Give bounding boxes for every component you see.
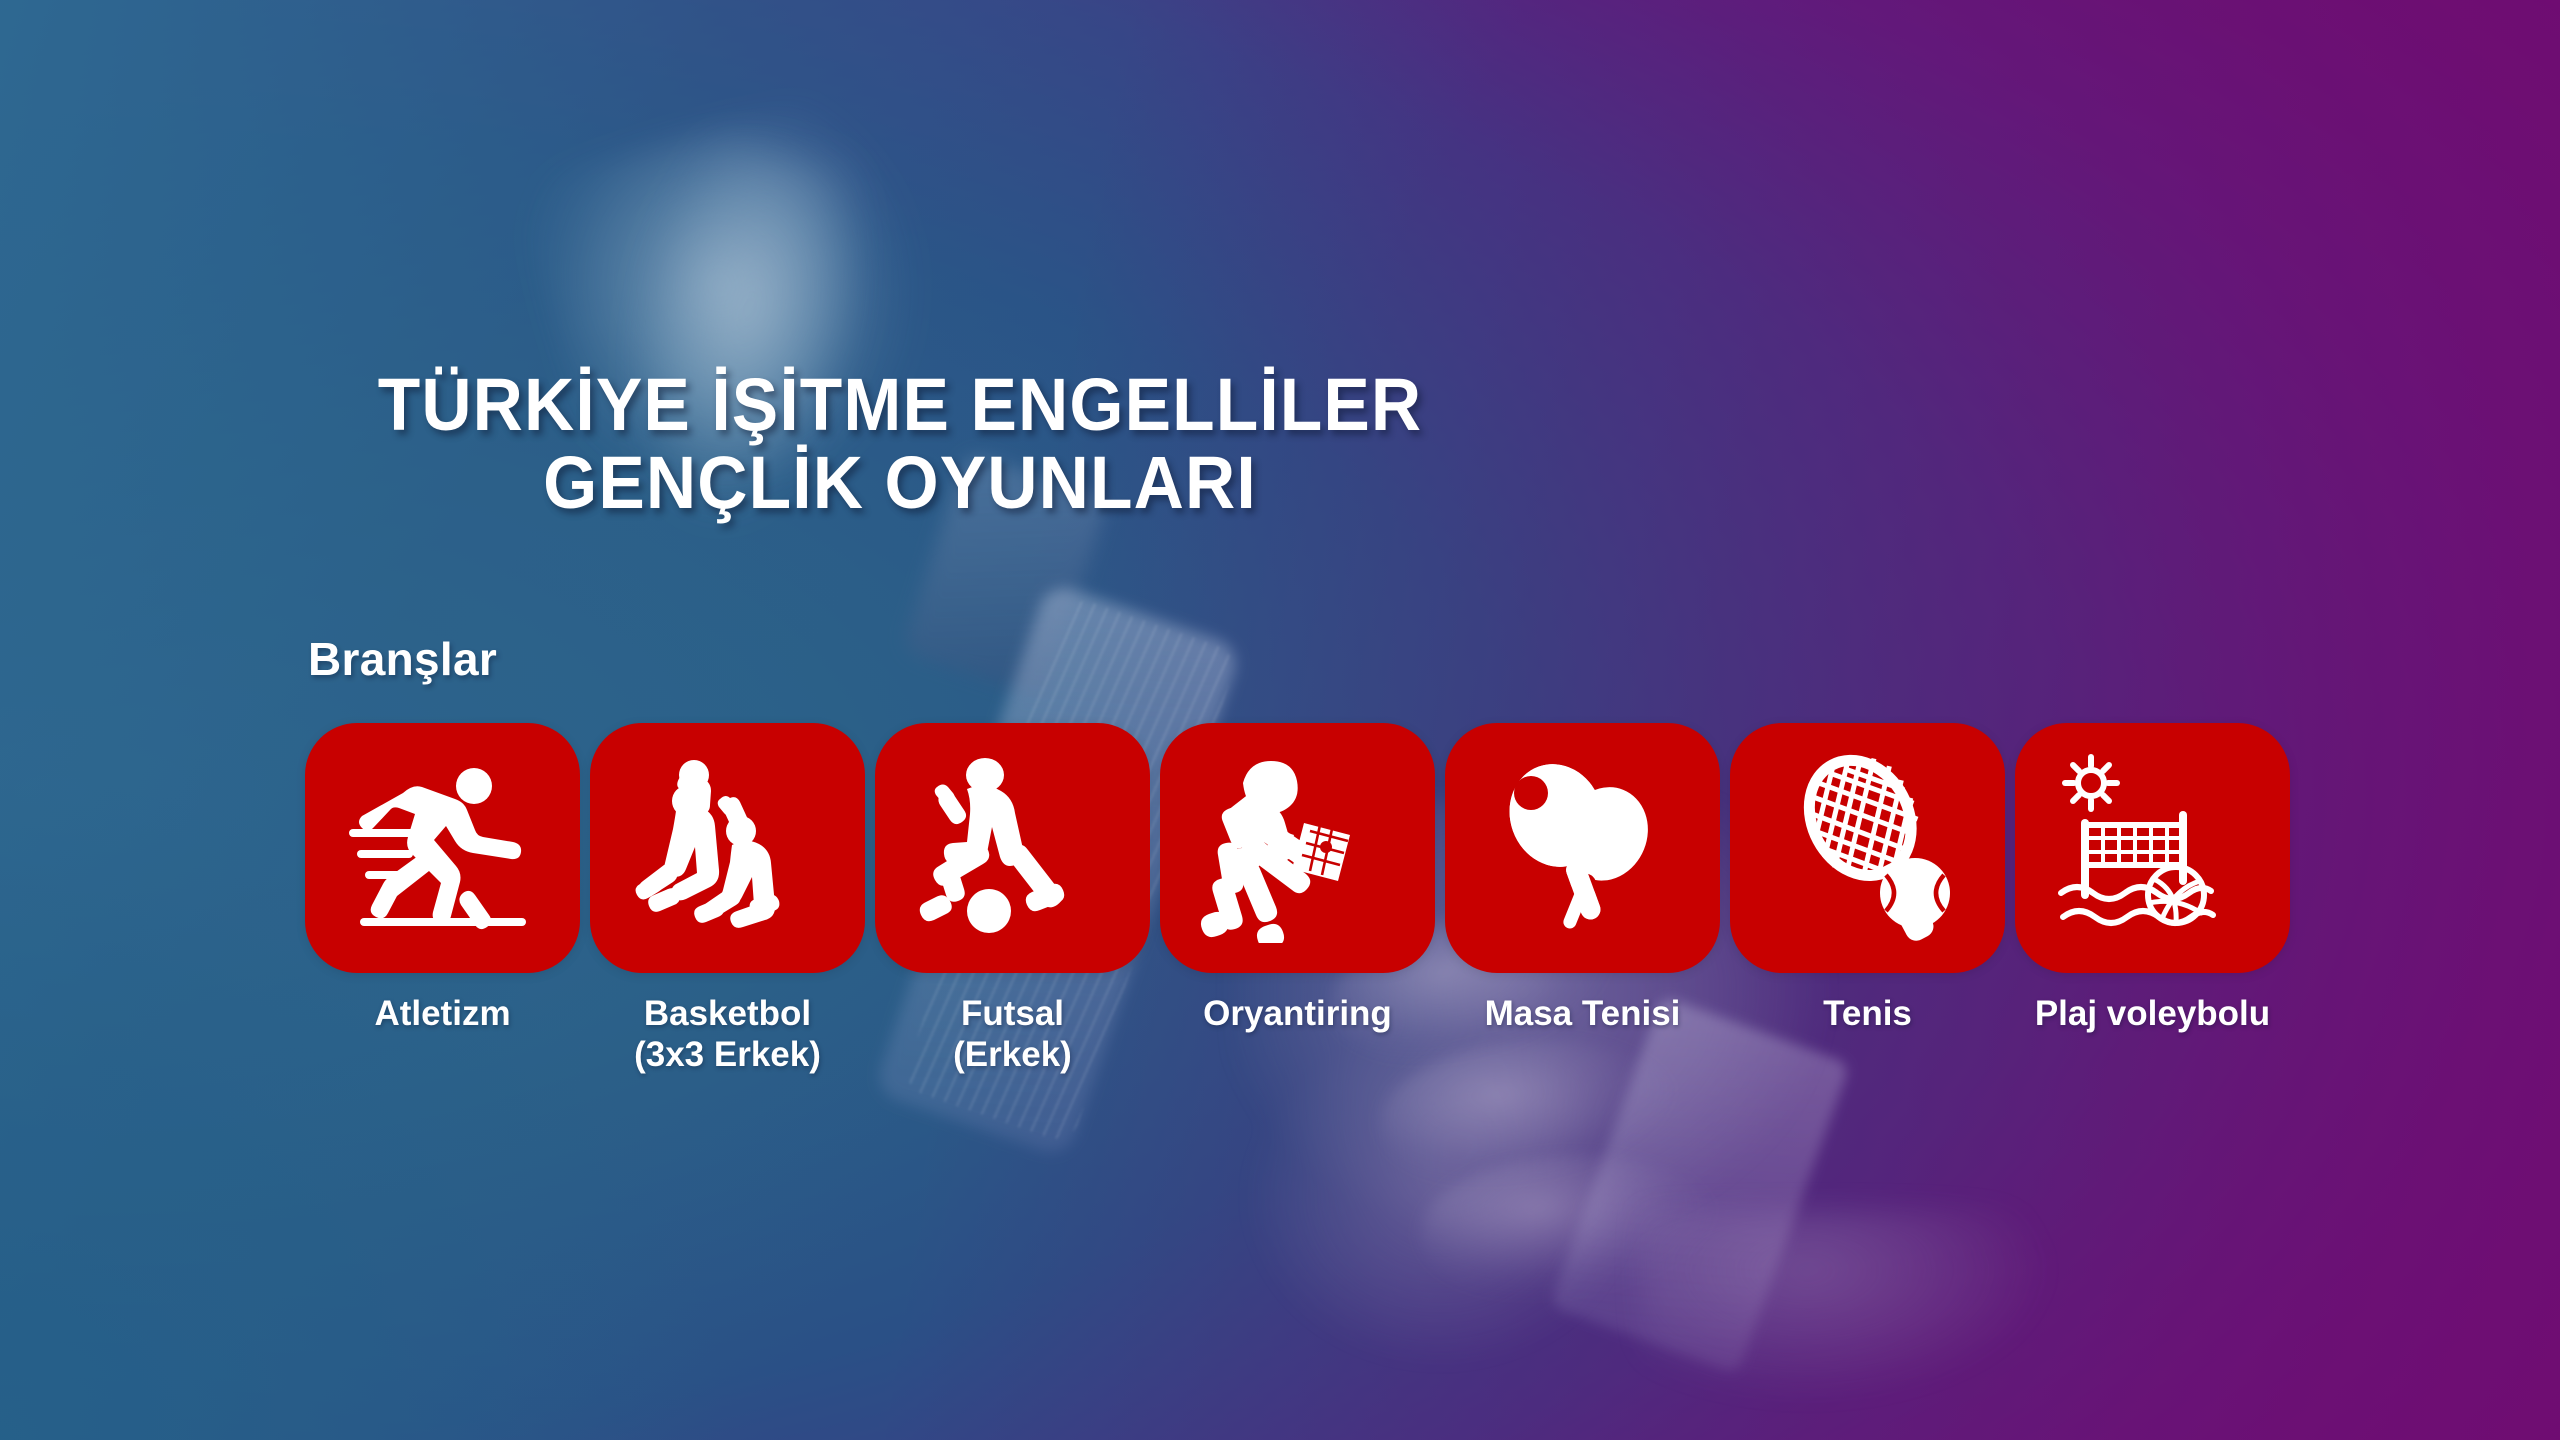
sport-label: Basketbol (3x3 Erkek) xyxy=(634,993,821,1076)
sport-tile[interactable] xyxy=(875,723,1150,973)
sport-label: Tenis xyxy=(1823,993,1912,1034)
sport-item-oryantiring[interactable]: Oryantiring xyxy=(1160,723,1435,1034)
sport-item-tenis[interactable]: Tenis xyxy=(1730,723,2005,1034)
sport-item-basketbol[interactable]: Basketbol (3x3 Erkek) xyxy=(590,723,865,1076)
sport-item-masa-tenisi[interactable]: Masa Tenisi xyxy=(1445,723,1720,1034)
sport-label: Oryantiring xyxy=(1203,993,1392,1034)
sport-tile[interactable] xyxy=(1730,723,2005,973)
table-tennis-icon xyxy=(1483,753,1683,943)
sport-item-futsal[interactable]: Futsal (Erkek) xyxy=(875,723,1150,1076)
sport-tile[interactable] xyxy=(1160,723,1435,973)
sport-label: Plaj voleybolu xyxy=(2035,993,2270,1034)
futsal-icon xyxy=(913,753,1113,943)
poster-canvas: TÜRKİYE İŞİTME ENGELLİLER GENÇLİK OYUNLA… xyxy=(0,0,2560,1440)
orienteering-icon xyxy=(1198,753,1398,943)
sport-tile[interactable] xyxy=(305,723,580,973)
sport-item-atletizm[interactable]: Atletizm xyxy=(305,723,580,1034)
sports-list: Atletizm xyxy=(305,723,2300,1076)
section-heading-branslar: Branşlar xyxy=(308,632,497,686)
sport-tile[interactable] xyxy=(1445,723,1720,973)
beach-volleyball-icon xyxy=(2053,753,2253,943)
page-title: TÜRKİYE İŞİTME ENGELLİLER GENÇLİK OYUNLA… xyxy=(54,366,1746,523)
title-line-2: GENÇLİK OYUNLARI xyxy=(54,444,1746,522)
sport-tile[interactable] xyxy=(590,723,865,973)
basketball-icon xyxy=(628,753,828,943)
running-icon xyxy=(343,753,543,943)
tennis-icon xyxy=(1768,753,1968,943)
title-line-1: TÜRKİYE İŞİTME ENGELLİLER xyxy=(378,363,1423,446)
sport-label: Futsal (Erkek) xyxy=(953,993,1072,1076)
sport-item-plaj-voleybolu[interactable]: Plaj voleybolu xyxy=(2015,723,2290,1034)
sport-label: Masa Tenisi xyxy=(1485,993,1681,1034)
sport-tile[interactable] xyxy=(2015,723,2290,973)
sport-label: Atletizm xyxy=(374,993,510,1034)
